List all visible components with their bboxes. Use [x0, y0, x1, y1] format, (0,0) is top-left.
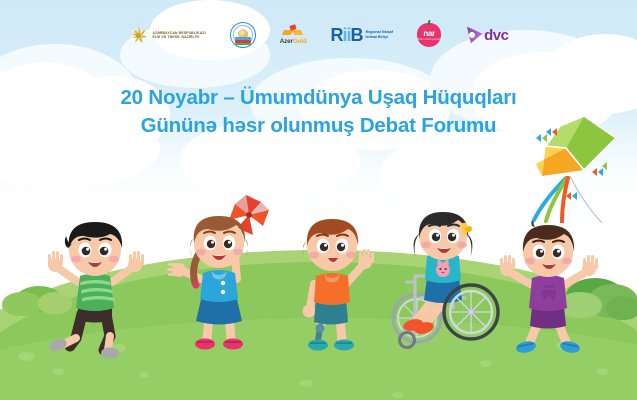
grass-dot [596, 368, 608, 375]
poster-title-line1: 20 Noyabr – Ümumdünya Uşaq Hüquqları [120, 86, 516, 109]
logo-azergold[interactable]: AzerGold [280, 25, 307, 45]
bush-shape [2, 292, 42, 316]
logo-state-emblem[interactable] [230, 22, 256, 48]
logo-nar-tagline: Bizim mobil operator [417, 38, 441, 41]
dvc-triangle-icon [465, 27, 482, 44]
logo-riib[interactable]: RiiB Regional İnkişaf İctimai Birliyi [331, 26, 394, 44]
child-boy-purple [494, 218, 604, 360]
gold-star-emblem-icon [129, 25, 149, 45]
grass-dot [300, 380, 313, 387]
logo-ministry-of-science-and-education[interactable]: AZƏRBAYCAN RESPUBLİKASI ELM VƏ TƏHSİL NA… [129, 25, 206, 45]
poster-title: 20 Noyabr – Ümumdünya Uşaq Hüquqları Gün… [0, 84, 637, 140]
logo-dvc-wordmark: dvc [484, 28, 508, 43]
logo-dvc[interactable]: dvc [465, 27, 508, 44]
child-boy-orange-prosthetic [282, 198, 382, 358]
child-girl-blue-pinwheel [163, 193, 275, 358]
logo-nar[interactable]: nar Bizim mobil operator [417, 23, 441, 47]
grass-dot [18, 352, 34, 361]
logo-azergold-wordmark: AzerGold [280, 38, 307, 45]
grass-dot [392, 392, 403, 398]
sponsor-logo-bar: AZƏRBAYCAN RESPUBLİKASI ELM VƏ TƏHSİL NA… [0, 14, 637, 56]
poster-canvas: AZƏRBAYCAN RESPUBLİKASI ELM VƏ TƏHSİL NA… [0, 0, 637, 400]
circular-state-emblem-icon [230, 22, 256, 48]
grass-dot [140, 372, 149, 378]
logo-riib-line2: İctimai Birliyi [366, 35, 394, 40]
child-girl-wheelchair [391, 212, 511, 358]
poster-title-line2: Gününə həsr olunmuş Debat Forumu [0, 112, 637, 140]
wheelchair-wheel-front [444, 285, 498, 339]
azergold-chevron-icon [282, 25, 304, 37]
logo-nar-wordmark: nar [423, 30, 435, 38]
bush-shape [606, 296, 637, 320]
nar-pomegranate-icon: nar Bizim mobil operator [417, 23, 441, 47]
riib-wordmark-icon: RiiB [331, 26, 363, 44]
child-boy-green-running [42, 218, 150, 358]
grass-dot [52, 368, 64, 375]
logo-ministry-line2: ELM VƏ TƏHSİL NAZİRLİYİ [153, 35, 206, 39]
grass-dot [480, 360, 492, 367]
